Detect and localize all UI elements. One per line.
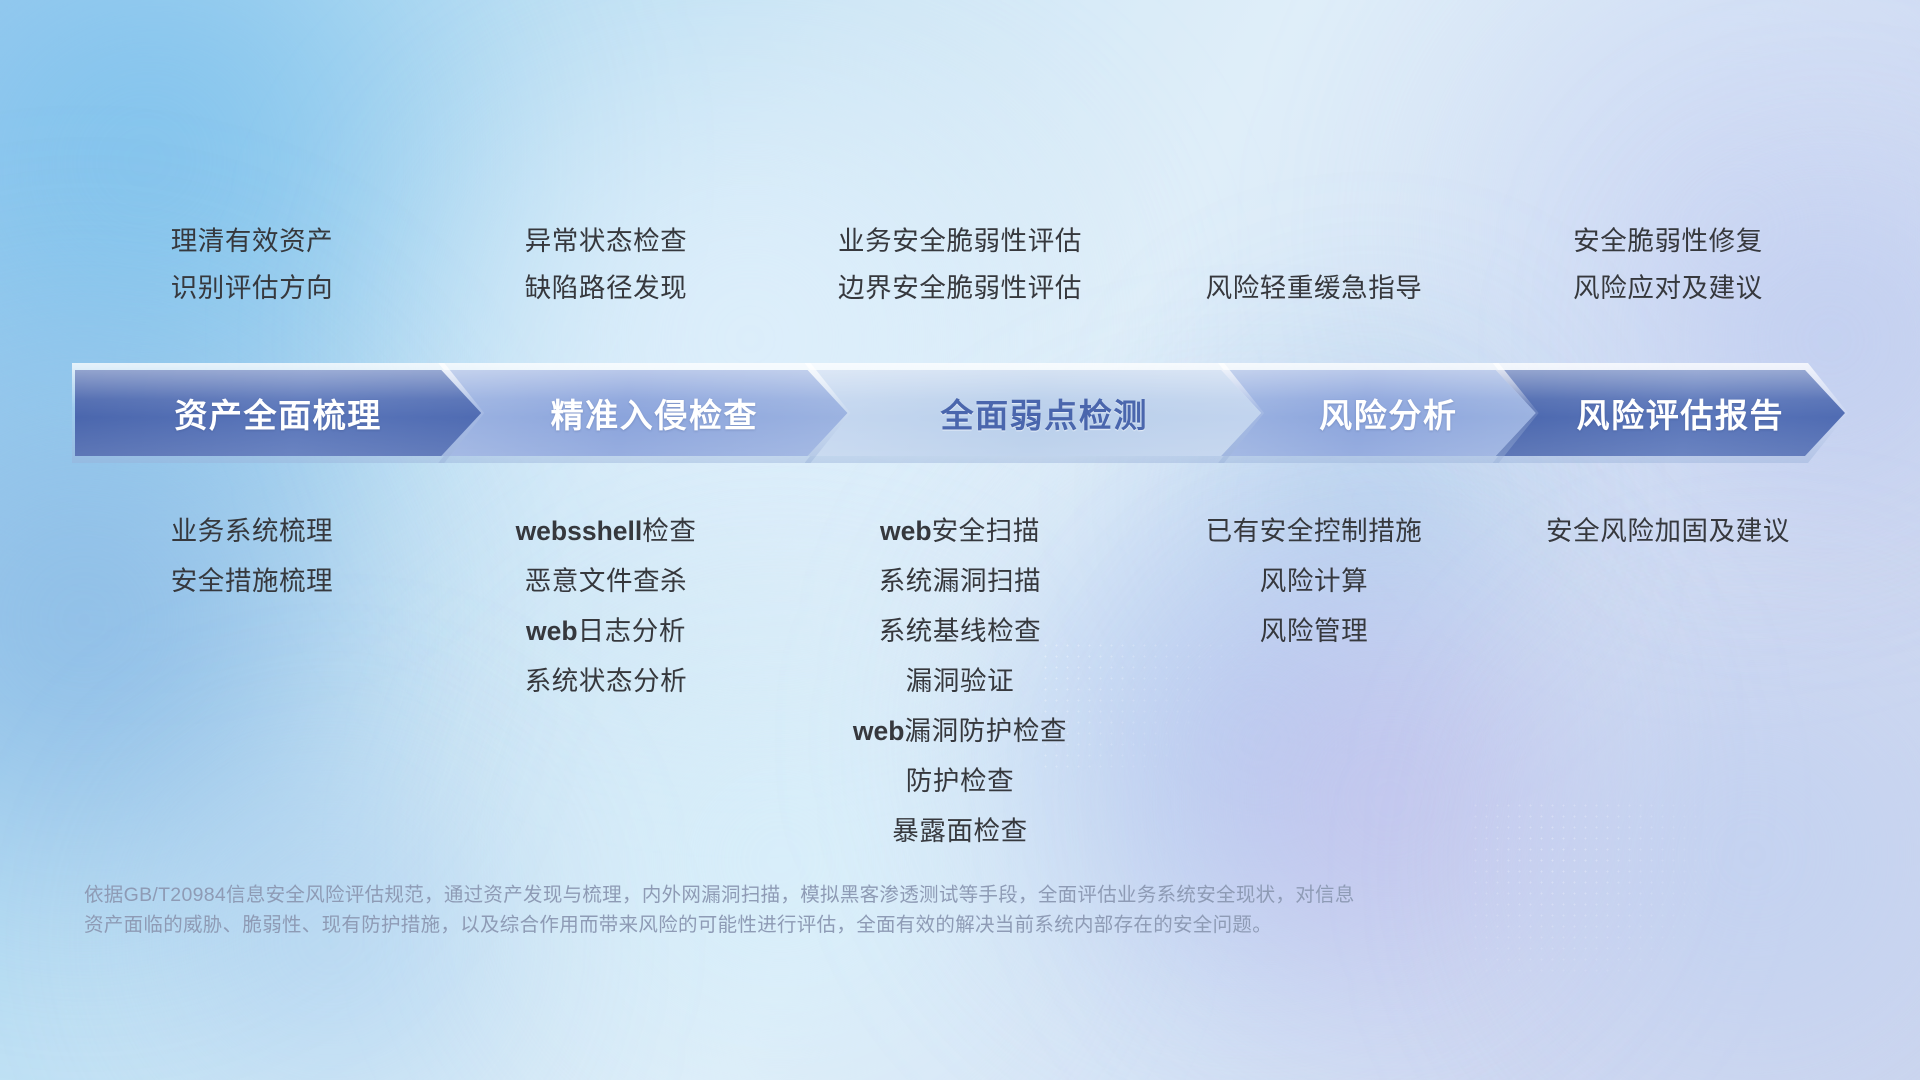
description-line-1: 依据GB/T20984信息安全风险评估规范，通过资产发现与梳理，内外网漏洞扫描，… <box>84 880 1644 910</box>
output-item: 安全风险加固及建议 <box>1491 506 1845 556</box>
process-step-3[interactable]: 全面弱点检测 <box>808 370 1262 456</box>
output-item: web漏洞防护检查 <box>783 706 1137 756</box>
column-2-inputs: 异常状态检查缺陷路径发现 <box>429 218 783 312</box>
output-item: 已有安全控制措施 <box>1137 506 1491 556</box>
column-4-inputs: 风险轻重缓急指导 <box>1137 218 1491 312</box>
input-item: 异常状态检查 <box>429 218 783 265</box>
input-item: 边界安全脆弱性评估 <box>783 265 1137 312</box>
input-item: 识别评估方向 <box>75 265 429 312</box>
process-step-label: 精准入侵检查 <box>551 389 759 437</box>
output-item: 风险计算 <box>1137 556 1491 606</box>
description-line-2: 资产面临的威胁、脆弱性、现有防护措施，以及综合作用而带来风险的可能性进行评估，全… <box>84 910 1644 940</box>
output-item: websshell检查 <box>429 506 783 556</box>
column-3-inputs: 业务安全脆弱性评估边界安全脆弱性评估 <box>783 218 1137 312</box>
description-paragraph: 依据GB/T20984信息安全风险评估规范，通过资产发现与梳理，内外网漏洞扫描，… <box>84 880 1644 940</box>
column-2-outputs: websshell检查恶意文件查杀web日志分析系统状态分析 <box>429 506 783 706</box>
column-3-outputs: web安全扫描系统漏洞扫描系统基线检查漏洞验证web漏洞防护检查防护检查暴露面检… <box>783 506 1137 856</box>
process-step-1[interactable]: 资产全面梳理 <box>75 370 481 456</box>
column-5-outputs: 安全风险加固及建议 <box>1491 506 1845 556</box>
input-item: 风险轻重缓急指导 <box>1137 265 1491 312</box>
output-item: 业务系统梳理 <box>75 506 429 556</box>
process-step-5[interactable]: 风险评估报告 <box>1496 370 1845 456</box>
output-item: 恶意文件查杀 <box>429 556 783 606</box>
output-item: 风险管理 <box>1137 606 1491 656</box>
process-step-2[interactable]: 精准入侵检查 <box>441 370 847 456</box>
column-4-outputs: 已有安全控制措施风险计算风险管理 <box>1137 506 1491 656</box>
output-item: 漏洞验证 <box>783 656 1137 706</box>
output-item: web日志分析 <box>429 606 783 656</box>
process-step-4[interactable]: 风险分析 <box>1221 370 1536 456</box>
process-step-label: 风险分析 <box>1319 389 1457 437</box>
upper-label-row: 理清有效资产识别评估方向异常状态检查缺陷路径发现业务安全脆弱性评估边界安全脆弱性… <box>75 218 1845 312</box>
output-item: 系统基线检查 <box>783 606 1137 656</box>
output-item: 防护检查 <box>783 756 1137 806</box>
process-step-label: 资产全面梳理 <box>174 389 382 437</box>
column-1-outputs: 业务系统梳理安全措施梳理 <box>75 506 429 606</box>
input-item: 风险应对及建议 <box>1491 265 1845 312</box>
column-5-inputs: 安全脆弱性修复风险应对及建议 <box>1491 218 1845 312</box>
output-item: 系统状态分析 <box>429 656 783 706</box>
lower-label-row: 业务系统梳理安全措施梳理websshell检查恶意文件查杀web日志分析系统状态… <box>75 506 1845 856</box>
output-item: web安全扫描 <box>783 506 1137 556</box>
process-step-label: 风险评估报告 <box>1577 389 1785 437</box>
input-item: 安全脆弱性修复 <box>1491 218 1845 265</box>
input-item: 理清有效资产 <box>75 218 429 265</box>
output-item: 系统漏洞扫描 <box>783 556 1137 606</box>
input-item: 业务安全脆弱性评估 <box>783 218 1137 265</box>
column-1-inputs: 理清有效资产识别评估方向 <box>75 218 429 312</box>
output-item: 暴露面检查 <box>783 806 1137 856</box>
input-item: 缺陷路径发现 <box>429 265 783 312</box>
output-item: 安全措施梳理 <box>75 556 429 606</box>
process-step-label: 全面弱点检测 <box>940 389 1148 437</box>
process-flow-banner: 资产全面梳理精准入侵检查全面弱点检测风险分析风险评估报告 <box>75 370 1845 456</box>
